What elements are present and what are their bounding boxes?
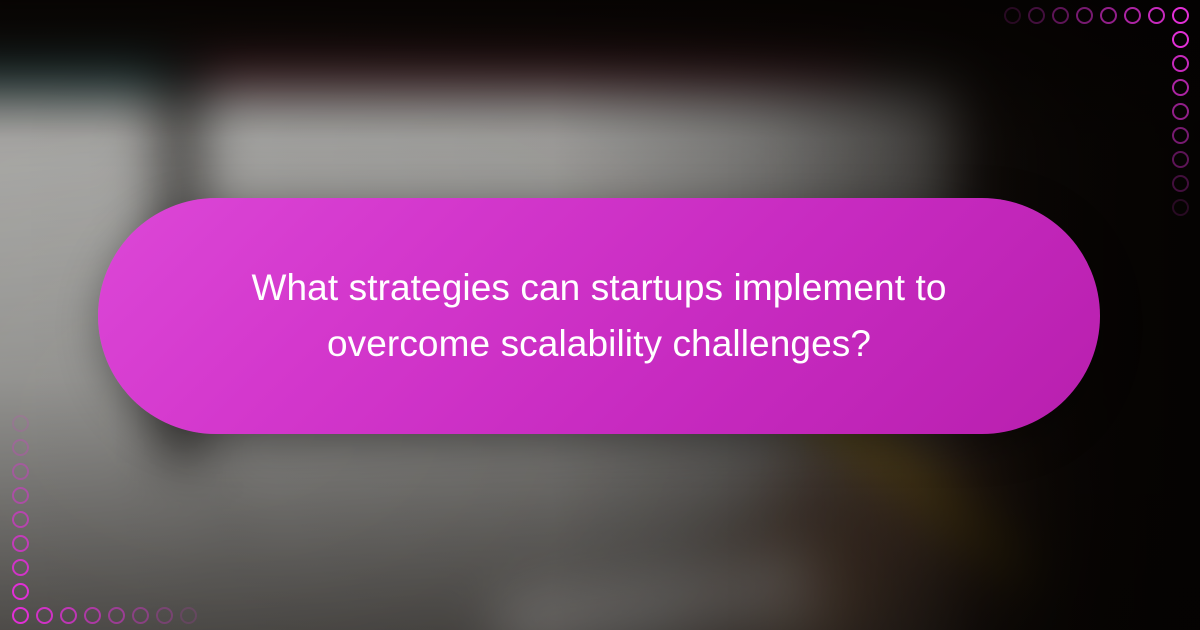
decorative-circle-icon	[12, 463, 29, 480]
decorative-dots-right	[1168, 27, 1192, 219]
decorative-circle-icon	[12, 607, 29, 624]
decorative-circle-icon	[60, 607, 77, 624]
decorative-dots-bottom-left	[8, 603, 200, 627]
decorative-circle-icon	[1172, 31, 1189, 48]
decorative-circle-icon	[12, 583, 29, 600]
decorative-circle-icon	[1100, 7, 1117, 24]
question-text: What strategies can startups implement t…	[219, 260, 979, 372]
decorative-circle-icon	[1172, 7, 1189, 24]
decorative-circle-icon	[1172, 199, 1189, 216]
decorative-circle-icon	[1172, 175, 1189, 192]
decorative-circle-icon	[1076, 7, 1093, 24]
decorative-circle-icon	[1172, 55, 1189, 72]
decorative-circle-icon	[1172, 127, 1189, 144]
question-card: What strategies can startups implement t…	[98, 198, 1100, 434]
decorative-circle-icon	[156, 607, 173, 624]
decorative-circle-icon	[1172, 79, 1189, 96]
question-card-graphic: What strategies can startups implement t…	[0, 0, 1200, 630]
decorative-circle-icon	[84, 607, 101, 624]
decorative-dots-left	[8, 411, 32, 603]
decorative-circle-icon	[1172, 151, 1189, 168]
decorative-circle-icon	[12, 535, 29, 552]
decorative-circle-icon	[1052, 7, 1069, 24]
decorative-circle-icon	[1148, 7, 1165, 24]
decorative-circle-icon	[36, 607, 53, 624]
decorative-circle-icon	[132, 607, 149, 624]
decorative-circle-icon	[180, 607, 197, 624]
decorative-circle-icon	[12, 559, 29, 576]
decorative-circle-icon	[12, 439, 29, 456]
decorative-circle-icon	[1004, 7, 1021, 24]
decorative-circle-icon	[12, 487, 29, 504]
decorative-circle-icon	[12, 415, 29, 432]
decorative-circle-icon	[12, 511, 29, 528]
decorative-dots-top-right	[1000, 3, 1192, 27]
decorative-circle-icon	[1124, 7, 1141, 24]
decorative-circle-icon	[108, 607, 125, 624]
decorative-circle-icon	[1172, 103, 1189, 120]
decorative-circle-icon	[1028, 7, 1045, 24]
